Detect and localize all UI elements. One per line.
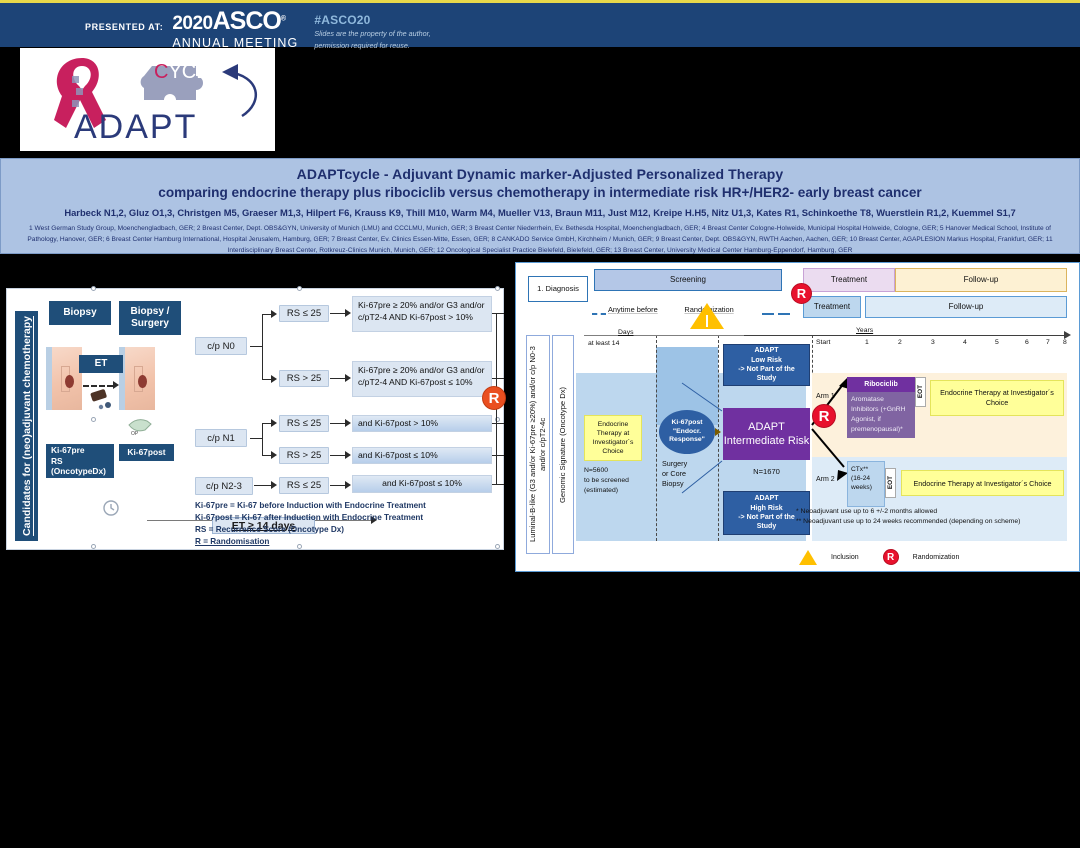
n5600-label: N=5600 to be screened (estimated) [584,466,629,496]
asco-logo-group: PRESENTED AT: 2020ASCO® ANNUAL MEETING #… [85,9,431,52]
selection-handle[interactable] [297,286,302,291]
connector [250,438,262,439]
days-axis-label: Days [618,329,634,336]
eligibility-label-box-1: Luminal-B-like (G3 and/or Ki-67pre ≥20%)… [526,335,550,554]
axis-year-2: 2 [898,339,902,346]
legend-line-3: RS = Recurrence Score (Oncotype Dx) [195,524,426,536]
rs-label-3: RS ≤ 25 [279,415,329,432]
connector [262,423,263,456]
arrow-head-icon [345,451,351,459]
asco-wordmark-top: 2020ASCO® [172,9,285,34]
legend-randomization-label: Randomization [913,554,960,561]
title-band: ADAPTcycle - Adjuvant Dynamic marker-Adj… [0,158,1080,254]
connector [330,423,346,424]
arrow-head-icon [271,375,277,383]
axis-year-1: 1 [865,339,869,346]
asco-header-bar: PRESENTED AT: 2020ASCO® ANNUAL MEETING #… [0,0,1080,47]
connector [492,484,504,485]
eot-label-arm2: EOT [887,476,894,489]
connector [330,485,346,486]
selection-handle[interactable] [91,286,96,291]
legend-line-1: Ki-67pre = Ki-67 before Induction with E… [195,500,426,512]
legend-line-2: Ki-67post = Ki-67 after Induction with E… [195,512,426,524]
screening-phase-box: Screening [594,269,782,291]
randomization-badge-top: R [791,283,812,304]
arrow-head-icon [271,310,277,318]
ctx-chemotherapy-box: CTx** (16-24 weeks) [847,461,885,507]
registered-icon: ® [281,16,286,23]
pill-bottle-icon [89,389,115,411]
criteria-box-5: and Ki-67post ≤ 10% [352,475,492,493]
selection-handle[interactable] [495,544,500,549]
et-arrow-dashed [83,385,113,387]
connector [492,313,504,314]
selection-handle[interactable] [495,286,500,291]
page-subtitle: comparing endocrine therapy plus ribocic… [1,185,1079,200]
logo-cycle-text: CYCLE [154,61,221,83]
arrow-head-icon [345,419,351,427]
node-cp-n2-3: c/p N2-3 [195,477,253,495]
phase-divider [656,335,657,541]
axis-arrow-icon [1064,331,1071,339]
axis-year-4: 4 [963,339,967,346]
inclusion-legend-triangle-icon [799,550,817,565]
randomisation-badge-left: R [482,386,506,410]
connector [254,485,272,486]
endocrine-therapy-followup-arm2: Endocrine Therapy at Investigator´s Choi… [901,470,1064,496]
adapt-low-risk-box: ADAPT Low Risk -> Not Part of the Study [723,344,810,386]
endocrine-therapy-followup-arm1: Endocrine Therapy at Investigator´s Choi… [930,380,1064,416]
breast-illustration-post [119,347,155,410]
days-minimum-label: at least 14 [588,340,619,347]
et-arrow-head-icon [113,381,119,389]
connector [250,346,262,347]
followup-phase-box-arm2: Follow-up [865,296,1067,318]
arrow-head-icon [271,481,277,489]
axis-year-5: 5 [995,339,999,346]
ki67-pre-box: Ki-67pre RS (OncotypeDx) [46,444,114,478]
arrow-head-icon [271,451,277,459]
connector [330,378,346,379]
asco-wordmark: 2020ASCO® ANNUAL MEETING [172,9,298,50]
node-cp-n0: c/p N0 [195,337,247,355]
connector [492,378,504,379]
arrow-head-icon [271,419,277,427]
endocrine-therapy-screening-box: Endocrine Therapy at Investigator´s Choi… [584,415,642,461]
eligibility-label-box-2: Genomic Signature (Oncotype Dx) [552,335,574,554]
selection-handle[interactable] [91,417,96,422]
adaptcycle-logo-icon: CYCLE ADAPT [32,50,272,150]
schema-legend: Inclusion R Randomization [799,549,959,565]
patient-selection-flowchart: Candidates for (neo)adjuvant chemotherap… [6,288,504,550]
treatment-phase-box-arm2: Treatment [803,296,861,318]
ribociclib-box: Ribociclib [847,377,915,392]
criteria-box-2: Ki-67pre ≥ 20% and/or G3 and/or c/pT2-4 … [352,361,492,397]
aromatase-inhibitors-box: Aromatase Inhibitors (+GnRH Agonist, if … [847,392,915,438]
connector [330,313,346,314]
schema-footnotes: * Neoadjuvant use up to 6 +/-2 months al… [796,507,1020,527]
trial-schema-panel: 1. Diagnosis Screening Treatment Follow-… [515,262,1080,572]
candidates-vertical-label: Candidates for (neo)adjuvant chemotherap… [15,311,38,541]
axis-year-6: 6 [1025,339,1029,346]
ki67-post-box: Ki-67post [119,444,174,461]
eligibility-label-2-text: Genomic Signature (Oncotype Dx) [553,336,573,553]
legend-inclusion-label: Inclusion [831,554,859,561]
days-axis-line [584,335,744,336]
footnote-2: ** Neoadjuvant use up to 24 weeks recomm… [796,517,1020,527]
affiliation-list: 1 West German Study Group, Moenchengladb… [1,224,1079,257]
dash-segment [778,313,790,315]
rs-label-1: RS ≤ 25 [279,305,329,322]
surgery-hand-icon [125,411,155,433]
criteria-box-5-text: and Ki-67post ≤ 10% [382,478,462,490]
clock-icon [102,499,120,517]
connector [262,314,263,379]
axis-year-7: 7 [1046,339,1050,346]
footnote-1: * Neoadjuvant use up to 6 +/-2 months al… [796,507,1020,517]
op-label: OP [131,431,138,437]
legend-line-4: R = Randomisation [195,536,426,548]
logo-adapt-text: ADAPT [74,108,197,146]
criteria-box-3-text: and Ki-67post > 10% [358,418,438,430]
asco-note-line-2: permission required for reuse. [314,41,430,51]
eot-marker-arm2: EOT [885,468,896,498]
axis-start-label: Start [816,339,830,346]
eot-marker-arm1: EOT [915,377,926,407]
axis-year-3: 3 [931,339,935,346]
n1670-label: N=1670 [723,467,810,476]
followup-phase-box-arm1: Follow-up [895,268,1067,292]
flowchart-legend: Ki-67pre = Ki-67 before Induction with E… [195,500,426,548]
anytime-before-text: Anytime before [608,305,658,314]
page-title: ADAPTcycle - Adjuvant Dynamic marker-Adj… [1,166,1079,182]
dash-segment [592,313,606,315]
selection-handle[interactable] [91,544,96,549]
biopsy-box: Biopsy [49,301,111,325]
connector [492,423,504,424]
diagnosis-box: 1. Diagnosis [528,276,588,302]
randomization-badge-arms: R [812,404,836,428]
author-list: Harbeck N1,2, Gluz O1,3, Christgen M5, G… [1,207,1079,218]
candidates-vertical-label-text: Candidates for (neo)adjuvant chemotherap… [21,316,33,536]
criteria-box-3: and Ki-67post > 10% [352,415,492,432]
asco-year: 2020 [172,13,212,34]
legend-randomization-badge: R [883,549,899,565]
arrow-head-icon [345,374,351,382]
criteria-box-1-text: Ki-67pre ≥ 20% and/or G3 and/or c/pT2-4 … [358,300,485,322]
criteria-box-4-text: and Ki-67post ≤ 10% [358,450,438,462]
asco-hashtag: #ASCO20 [314,13,430,27]
adapt-intermediate-risk-box: ADAPT Intermediate Risk [723,408,810,460]
criteria-box-1: Ki-67pre ≥ 20% and/or G3 and/or c/pT2-4 … [352,296,492,332]
et-box: ET [79,355,123,373]
arrow-head-icon [345,309,351,317]
node-cp-n1: c/p N1 [195,429,247,447]
risk-branch-lines [676,381,728,499]
asco-name: ASCO [213,7,281,35]
eot-label-arm1: EOT [917,385,924,398]
presented-at-label: PRESENTED AT: [85,22,163,32]
years-axis-line [744,335,1066,336]
rs-label-2: RS > 25 [279,370,329,387]
treatment-phase-box-arm1: Treatment [803,268,895,292]
inclusion-triangle-bar-icon [706,315,708,327]
asco-note-line-1: Slides are the property of the author, [314,29,430,39]
rs-label-4: RS > 25 [279,447,329,464]
breast-illustration-pre [46,347,82,410]
rs-label-5: RS ≤ 25 [279,477,329,494]
arrow-head-icon [345,481,351,489]
asco-hashtag-group: #ASCO20 Slides are the property of the a… [314,9,430,52]
adaptcycle-logo-block: CYCLE ADAPT [20,48,275,151]
connector [492,455,504,456]
axis-year-8: 8 [1063,339,1067,346]
dash-segment [762,313,774,315]
biopsy-surgery-box: Biopsy / Surgery [119,301,181,335]
eligibility-label-1-text: Luminal-B-like (G3 and/or Ki-67pre ≥20%)… [527,336,549,553]
criteria-box-2-text: Ki-67pre ≥ 20% and/or G3 and/or c/pT2-4 … [358,365,485,387]
criteria-box-4: and Ki-67post ≤ 10% [352,447,492,464]
years-axis-label: Years [856,327,873,334]
connector [330,455,346,456]
